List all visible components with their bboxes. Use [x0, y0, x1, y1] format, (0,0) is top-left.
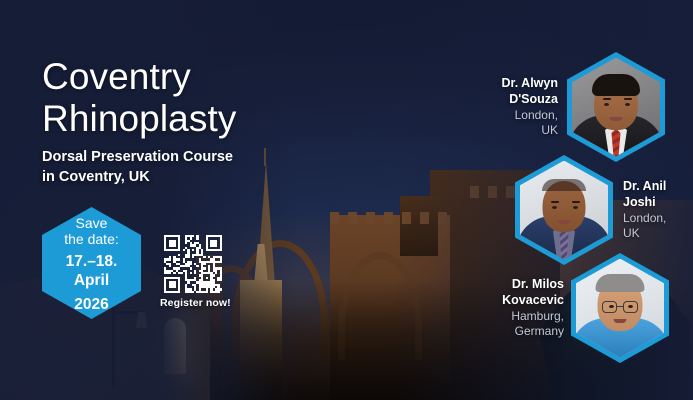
- speaker-2-text: Dr. Anil Joshi London, UK: [623, 179, 693, 241]
- speaker-1-country: UK: [486, 123, 558, 138]
- speaker-2-country: UK: [623, 226, 693, 241]
- speaker-1-text: Dr. Alwyn D'Souza London, UK: [486, 76, 558, 138]
- save-the-date-line-2: the date:: [64, 231, 119, 248]
- qr-code[interactable]: [164, 235, 222, 293]
- speaker-3-portrait-hexagon: [571, 253, 669, 363]
- speaker-3-name-line-2: Kovacevic: [486, 293, 564, 309]
- event-dates: 17.–18.: [66, 253, 118, 271]
- speaker-3-country: Germany: [486, 324, 564, 339]
- speaker-1-name-line-1: Dr. Alwyn: [486, 76, 558, 92]
- speaker-card-1: Dr. Alwyn D'Souza London, UK: [486, 52, 665, 162]
- title-line-1: Coventry: [42, 56, 236, 98]
- speaker-2-city: London,: [623, 211, 693, 226]
- subtitle-line-1: Dorsal Preservation Course: [42, 148, 233, 168]
- speaker-3-name-line-1: Dr. Milos: [486, 277, 564, 293]
- speaker-3-city: Hamburg,: [486, 309, 564, 324]
- event-month: April: [74, 272, 109, 290]
- speaker-1-city: London,: [486, 108, 558, 123]
- speaker-3-portrait: [576, 259, 664, 358]
- event-subtitle: Dorsal Preservation Course in Coventry, …: [42, 148, 233, 187]
- save-the-date-text: Save the date:: [64, 215, 119, 248]
- speaker-2-portrait: [520, 161, 608, 260]
- speaker-2-portrait-hexagon: [515, 155, 613, 265]
- speaker-card-2: Dr. Anil Joshi London, UK: [515, 155, 693, 265]
- speaker-1-name-line-2: D'Souza: [486, 92, 558, 108]
- event-year: 2026: [74, 296, 108, 314]
- speaker-2-name-line-2: Joshi: [623, 195, 693, 211]
- subtitle-line-2: in Coventry, UK: [42, 168, 233, 188]
- speaker-2-name-line-1: Dr. Anil: [623, 179, 693, 195]
- event-banner: Coventry Rhinoplasty Dorsal Preservation…: [0, 0, 693, 400]
- speaker-1-portrait: [572, 58, 660, 157]
- register-now-label[interactable]: Register now!: [160, 297, 231, 309]
- title-line-2: Rhinoplasty: [42, 98, 236, 140]
- speaker-1-portrait-hexagon: [567, 52, 665, 162]
- speaker-3-text: Dr. Milos Kovacevic Hamburg, Germany: [486, 277, 564, 339]
- event-title: Coventry Rhinoplasty: [42, 56, 236, 140]
- speaker-card-3: Dr. Milos Kovacevic Hamburg, Germany: [486, 253, 669, 363]
